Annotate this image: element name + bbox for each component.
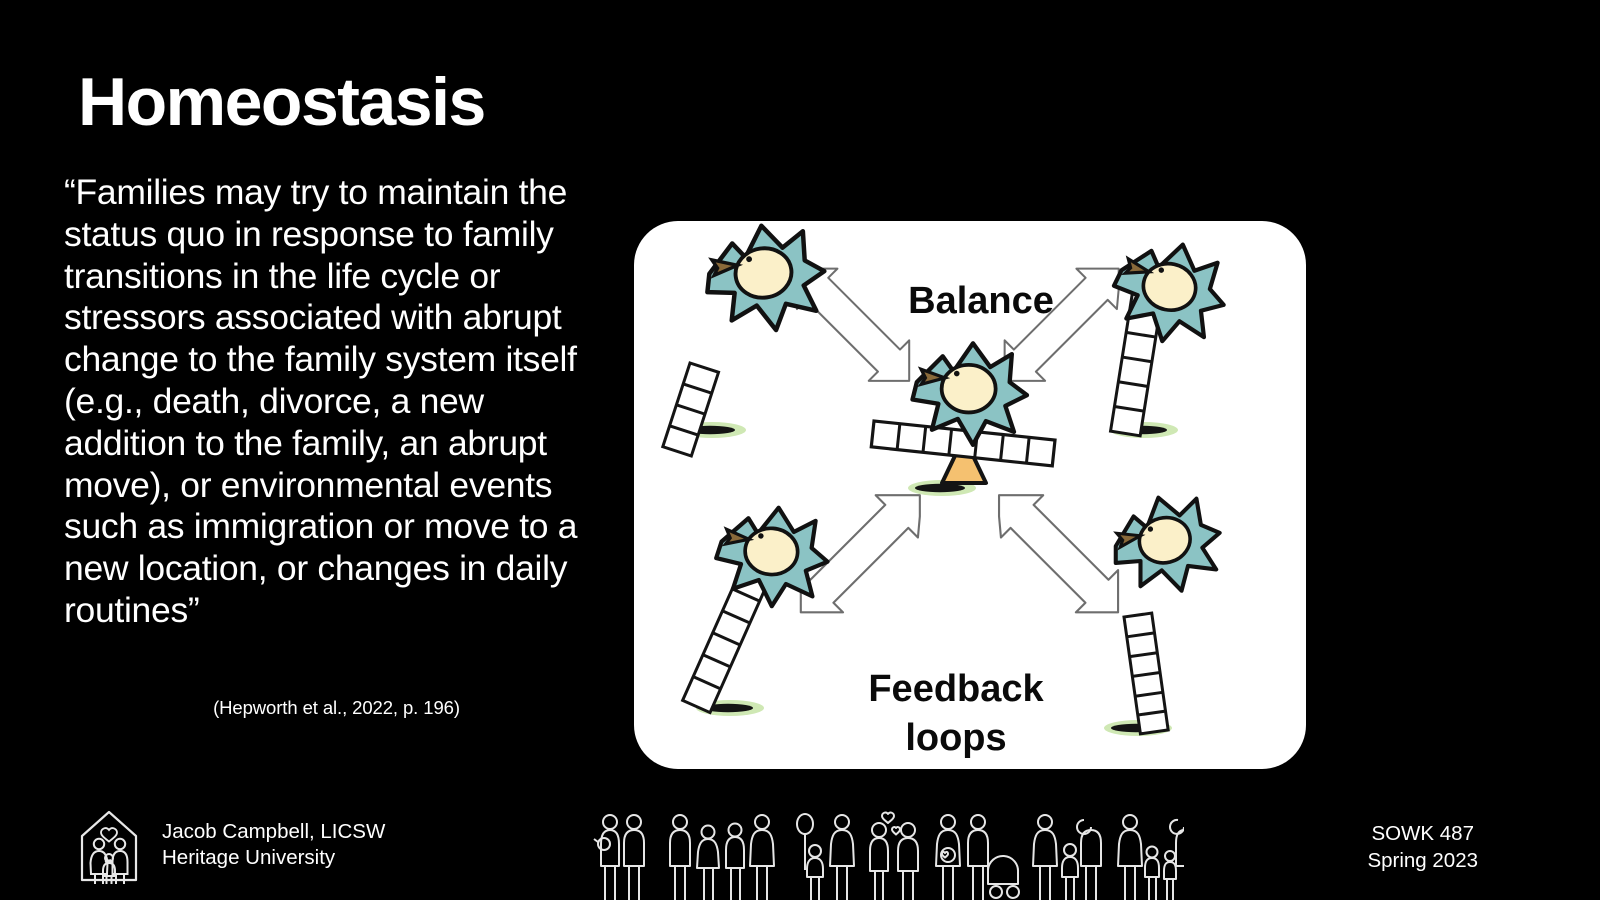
homeostasis-diagram-card: Balance Feedback loops bbox=[634, 221, 1306, 769]
homeostasis-diagram: Balance Feedback loops bbox=[634, 221, 1306, 769]
diagram-label-balance: Balance bbox=[908, 280, 1054, 322]
creature-top-left bbox=[699, 221, 831, 339]
diagram-label-loops: loops bbox=[905, 717, 1006, 759]
ladder-bottom-right bbox=[1124, 613, 1168, 734]
figure-bottom-right-group bbox=[1103, 485, 1231, 736]
house-family-heart-icon bbox=[78, 806, 140, 884]
footer-right: SOWK 487 Spring 2023 bbox=[1367, 820, 1478, 874]
diagram-label-feedback: Feedback bbox=[868, 668, 1044, 710]
footer-left: Jacob Campbell, LICSW Heritage Universit… bbox=[78, 806, 385, 884]
footer-author-name: Jacob Campbell, LICSW bbox=[162, 820, 385, 843]
ladder-bottom-left bbox=[683, 567, 770, 713]
arrow-bottom-right bbox=[999, 495, 1118, 612]
course-code: SOWK 487 bbox=[1367, 820, 1478, 847]
quote-citation: (Hepworth et al., 2022, p. 196) bbox=[64, 697, 609, 719]
figure-top-right-group bbox=[1105, 232, 1234, 438]
figure-top-left-group bbox=[663, 221, 832, 456]
quote-text: “Families may try to maintain the status… bbox=[64, 172, 609, 632]
course-term: Spring 2023 bbox=[1367, 847, 1478, 874]
creature-bottom-right bbox=[1103, 485, 1231, 604]
footer-author-block: Jacob Campbell, LICSW Heritage Universit… bbox=[162, 819, 385, 871]
quote-block: “Families may try to maintain the status… bbox=[64, 172, 609, 632]
page-title: Homeostasis bbox=[78, 68, 485, 136]
family-figures-strip-icon bbox=[592, 808, 1184, 900]
footer-author-org: Heritage University bbox=[162, 845, 385, 871]
ladder-top-left bbox=[663, 363, 719, 456]
footer-center bbox=[592, 808, 1184, 900]
creature-top-right bbox=[1105, 232, 1234, 352]
